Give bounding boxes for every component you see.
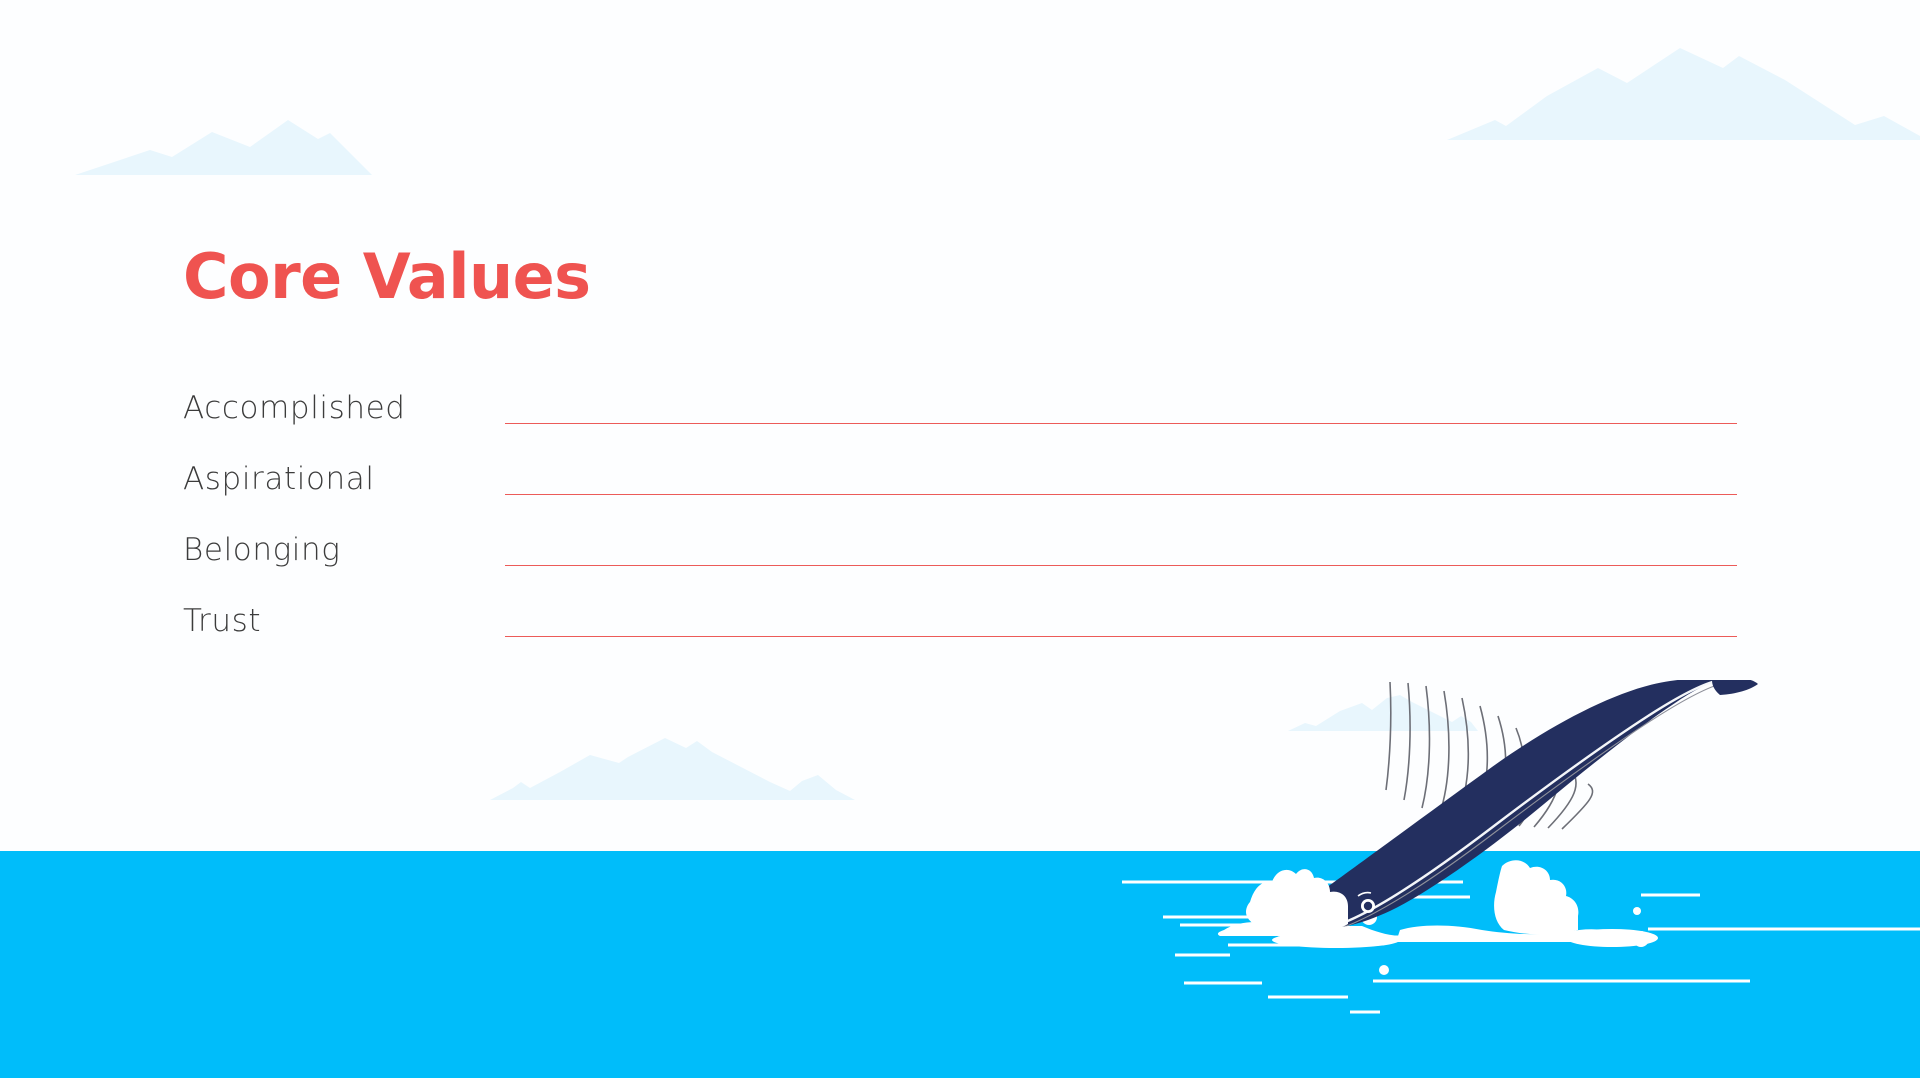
value-label-accomplished: Accomplished — [183, 390, 406, 426]
value-label-aspirational: Aspirational — [183, 461, 375, 497]
diving-whale-illustration — [1100, 680, 1800, 980]
top-right-mountain-shape — [1447, 48, 1920, 140]
value-label-belonging: Belonging — [183, 532, 340, 568]
value-write-in-line[interactable] — [505, 636, 1737, 637]
value-row: Belonging — [183, 532, 1743, 603]
value-label-trust: Trust — [183, 603, 261, 639]
page-title: Core Values — [183, 240, 591, 313]
value-row: Aspirational — [183, 461, 1743, 532]
value-write-in-line[interactable] — [505, 423, 1737, 424]
whale-tail-tip — [1712, 680, 1758, 695]
value-row: Accomplished — [183, 390, 1743, 461]
core-values-list: Accomplished Aspirational Belonging Trus… — [183, 390, 1743, 674]
mid-bottom-mountain-shape — [490, 738, 855, 800]
value-write-in-line[interactable] — [505, 565, 1737, 566]
top-left-mountain-shape — [75, 120, 372, 175]
value-write-in-line[interactable] — [505, 494, 1737, 495]
value-row: Trust — [183, 603, 1743, 674]
slide-canvas: Core Values Accomplished Aspirational Be… — [0, 0, 1920, 1078]
